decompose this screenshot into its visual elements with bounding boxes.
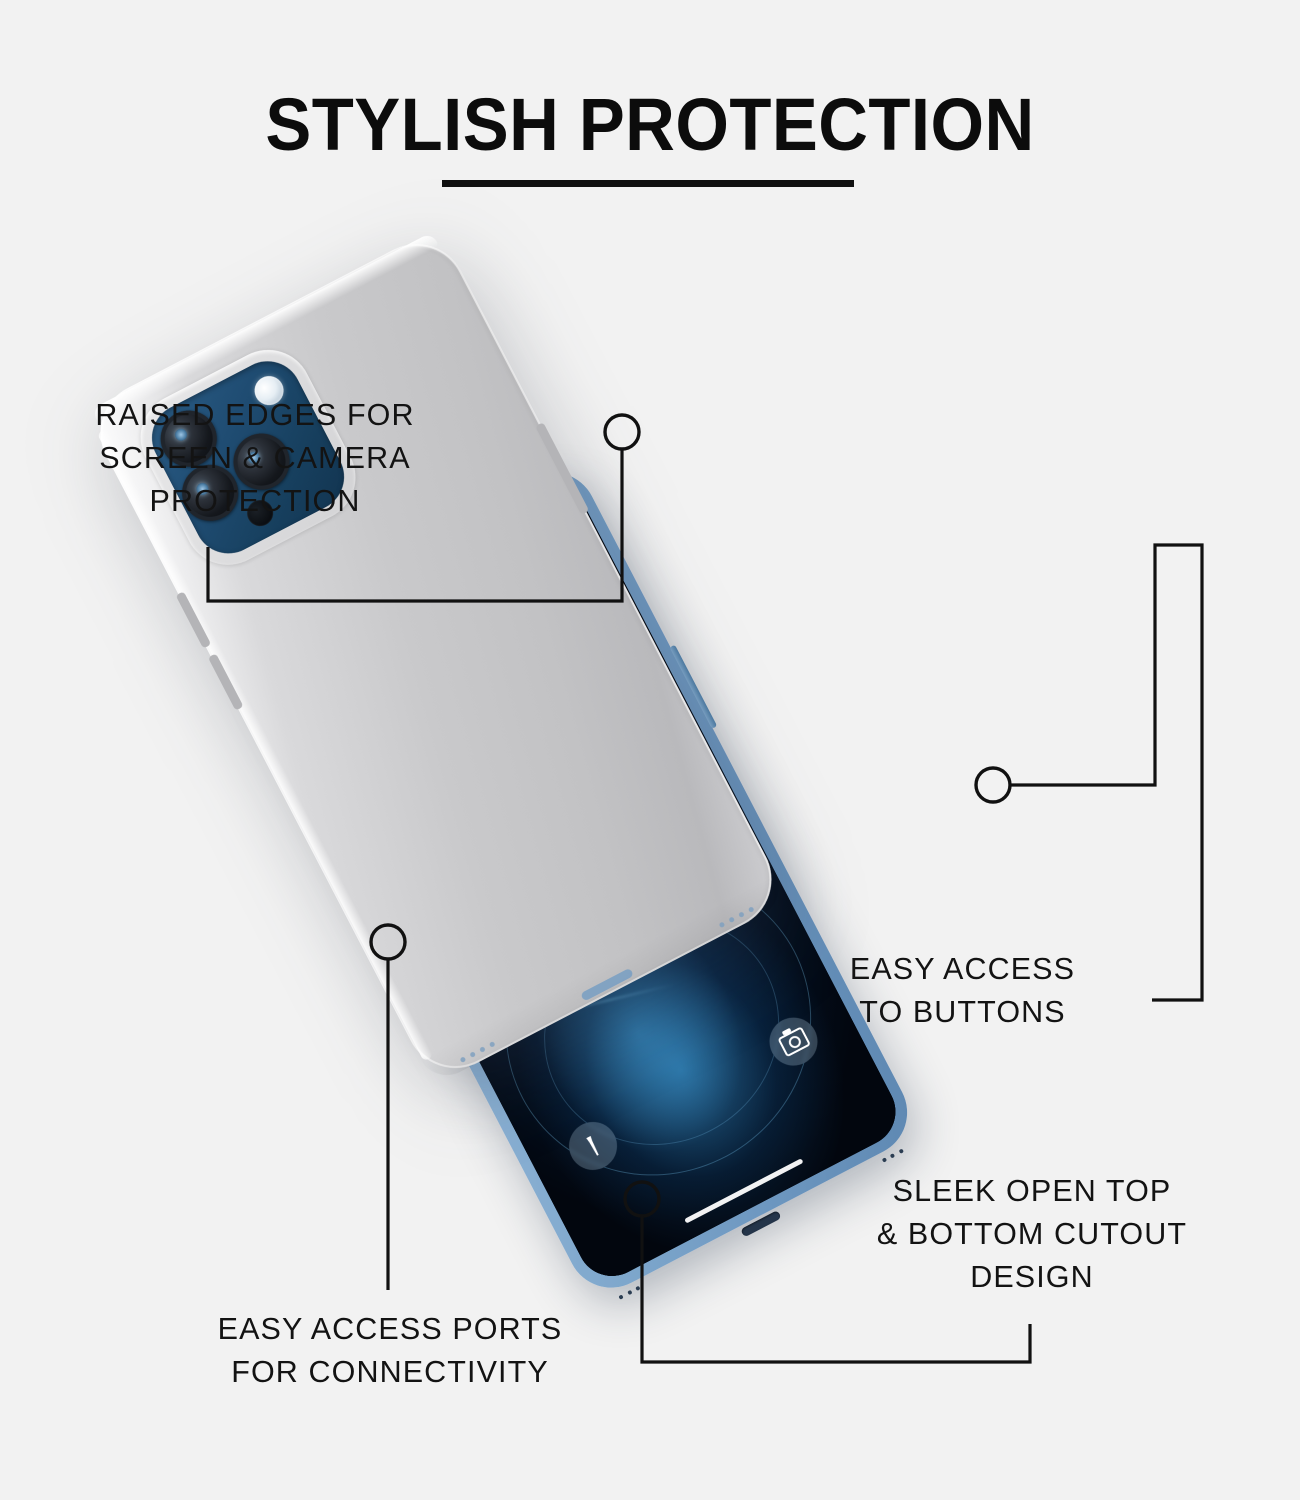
callout-sleek-cutout: SLEEK OPEN TOP & BOTTOM CUTOUT DESIGN bbox=[862, 1170, 1202, 1299]
charging-port bbox=[740, 1210, 781, 1237]
callout-easy-access-buttons: EASY ACCESS TO BUTTONS bbox=[790, 948, 1135, 1034]
speaker-grille-right bbox=[881, 1148, 904, 1162]
flashlight-icon bbox=[584, 1135, 602, 1158]
callout-easy-access-ports: EASY ACCESS PORTS FOR CONNECTIVITY bbox=[175, 1308, 605, 1394]
infographic-stage: STYLISH PROTECTION bbox=[0, 0, 1300, 1500]
callout-raised-edges: RAISED EDGES FOR SCREEN & CAMERA PROTECT… bbox=[40, 394, 470, 523]
speaker-grille-left bbox=[618, 1285, 641, 1299]
